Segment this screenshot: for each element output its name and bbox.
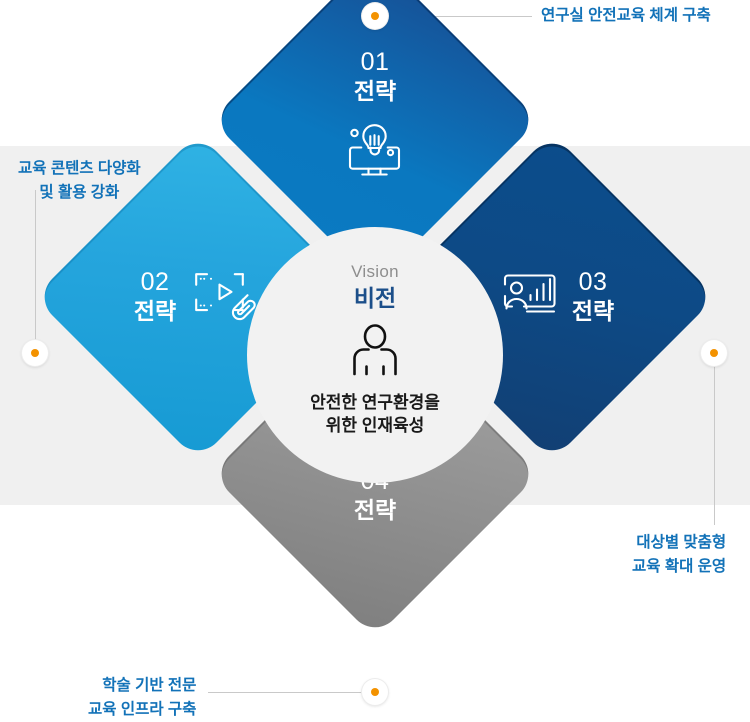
connector-dot-strategy-01[interactable]	[362, 3, 388, 29]
connector-line-strategy-02	[35, 190, 36, 342]
vision-label-ko: 비전	[354, 285, 396, 313]
callout-strategy-04-line-1: 학술 기반 전문	[102, 677, 196, 694]
vision-circle[interactable]: Vision 비전 안전한 연구환경을 위한 인재육성	[247, 227, 503, 483]
callout-strategy-02-line-2: 및 활용 강화	[18, 181, 141, 205]
strategy-diagram: 01 전략 02 전략	[0, 0, 750, 720]
callout-strategy-03-line-1: 대상별 맞춤형	[636, 534, 726, 551]
dot-center	[31, 349, 39, 357]
vision-description: 안전한 연구환경을 위한 인재육성	[310, 392, 440, 438]
dot-center	[371, 12, 379, 20]
vision-description-line-1: 안전한 연구환경을	[310, 393, 440, 412]
vision-description-line-2: 위한 인재육성	[326, 416, 425, 435]
dot-center	[710, 349, 718, 357]
callout-strategy-03: 대상별 맞춤형 교육 확대 운영	[632, 531, 726, 579]
connector-dot-strategy-03[interactable]	[701, 340, 727, 366]
callout-strategy-02-line-1: 교육 콘텐츠 다양화	[18, 160, 141, 177]
dot-center	[371, 688, 379, 696]
callout-strategy-01: 연구실 안전교육 체계 구축	[541, 4, 711, 28]
callout-strategy-02: 교육 콘텐츠 다양화 및 활용 강화	[18, 157, 141, 205]
callout-strategy-04: 학술 기반 전문 교육 인프라 구축	[88, 674, 196, 722]
connector-line-strategy-03	[714, 365, 715, 525]
person-icon	[346, 322, 404, 385]
connector-dot-strategy-04[interactable]	[362, 679, 388, 705]
connector-line-strategy-04	[208, 692, 365, 693]
callout-strategy-01-line-1: 연구실 안전교육 체계 구축	[541, 7, 711, 24]
vision-label-en: Vision	[351, 263, 399, 282]
callout-strategy-03-line-2: 교육 확대 운영	[632, 555, 726, 579]
callout-strategy-04-line-2: 교육 인프라 구축	[88, 698, 196, 722]
connector-dot-strategy-02[interactable]	[22, 340, 48, 366]
